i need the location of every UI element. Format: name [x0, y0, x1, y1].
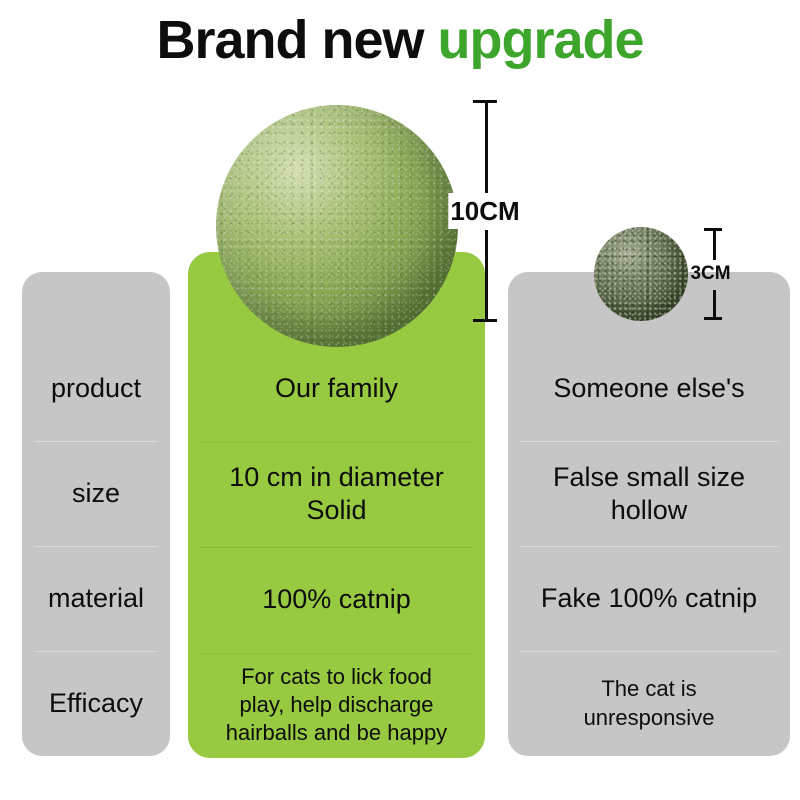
title-part-black: Brand new	[156, 10, 437, 70]
attribute-row-product: product	[22, 336, 170, 441]
ours-row-material: 100% catnip	[188, 547, 485, 653]
dimension-line-upper-icon	[713, 228, 716, 260]
others-row-size: False small size hollow	[508, 441, 790, 546]
small-catnip-ball-image	[594, 227, 688, 321]
ours-row-efficacy: For cats to lick food play, help dischar…	[188, 653, 485, 759]
ours-value-size-line2: Solid	[229, 494, 444, 527]
dimension-indicator-3cm: 3CM	[682, 228, 744, 320]
attribute-row-size: size	[22, 441, 170, 546]
comparison-column-others: Someone else's False small size hollow F…	[508, 272, 790, 756]
dimension-line-lower-icon	[485, 230, 488, 322]
attribute-label-material: material	[48, 583, 144, 614]
ours-value-material: 100% catnip	[262, 584, 411, 615]
dimension-cap-bottom-icon	[704, 317, 722, 320]
attribute-rows: product size material Efficacy	[22, 336, 170, 756]
dimension-line-lower-icon	[713, 290, 716, 320]
ours-value-product: Our family	[275, 373, 398, 404]
others-row-efficacy: The cat is unresponsive	[508, 651, 790, 756]
others-value-efficacy-line2: unresponsive	[584, 704, 715, 732]
title-part-green: upgrade	[438, 10, 644, 70]
page-title: Brand new upgrade	[0, 12, 800, 69]
attribute-label-size: size	[72, 478, 120, 509]
dimension-indicator-10cm: 10CM	[440, 100, 530, 322]
others-value-size-line2: hollow	[553, 494, 745, 527]
others-row-product: Someone else's	[508, 336, 790, 441]
ours-value-size-line1: 10 cm in diameter	[229, 461, 444, 494]
others-value-product: Someone else's	[553, 373, 744, 404]
others-value-material: Fake 100% catnip	[541, 583, 757, 614]
ours-rows: Our family 10 cm in diameter Solid 100% …	[188, 336, 485, 758]
ours-value-efficacy-line1: For cats to lick food	[226, 663, 447, 691]
comparison-column-attributes: product size material Efficacy	[22, 272, 170, 756]
infographic-canvas: Brand new upgrade 10CM 3CM product size …	[0, 0, 800, 800]
others-rows: Someone else's False small size hollow F…	[508, 336, 790, 756]
dimension-label-3cm: 3CM	[690, 258, 730, 290]
attribute-row-efficacy: Efficacy	[22, 651, 170, 756]
others-value-size-line1: False small size	[553, 461, 745, 494]
ours-row-size: 10 cm in diameter Solid	[188, 442, 485, 548]
large-catnip-ball-image	[216, 105, 458, 347]
ours-value-efficacy-line3: hairballs and be happy	[226, 719, 447, 747]
attribute-label-efficacy: Efficacy	[49, 688, 143, 719]
ours-value-efficacy-line2: play, help discharge	[226, 691, 447, 719]
others-value-efficacy-line1: The cat is	[584, 675, 715, 703]
ours-row-product: Our family	[188, 336, 485, 442]
attribute-label-product: product	[51, 373, 141, 404]
attribute-row-material: material	[22, 546, 170, 651]
others-row-material: Fake 100% catnip	[508, 546, 790, 651]
dimension-label-10cm: 10CM	[448, 193, 521, 229]
dimension-line-upper-icon	[485, 100, 488, 193]
dimension-cap-bottom-icon	[473, 319, 497, 322]
